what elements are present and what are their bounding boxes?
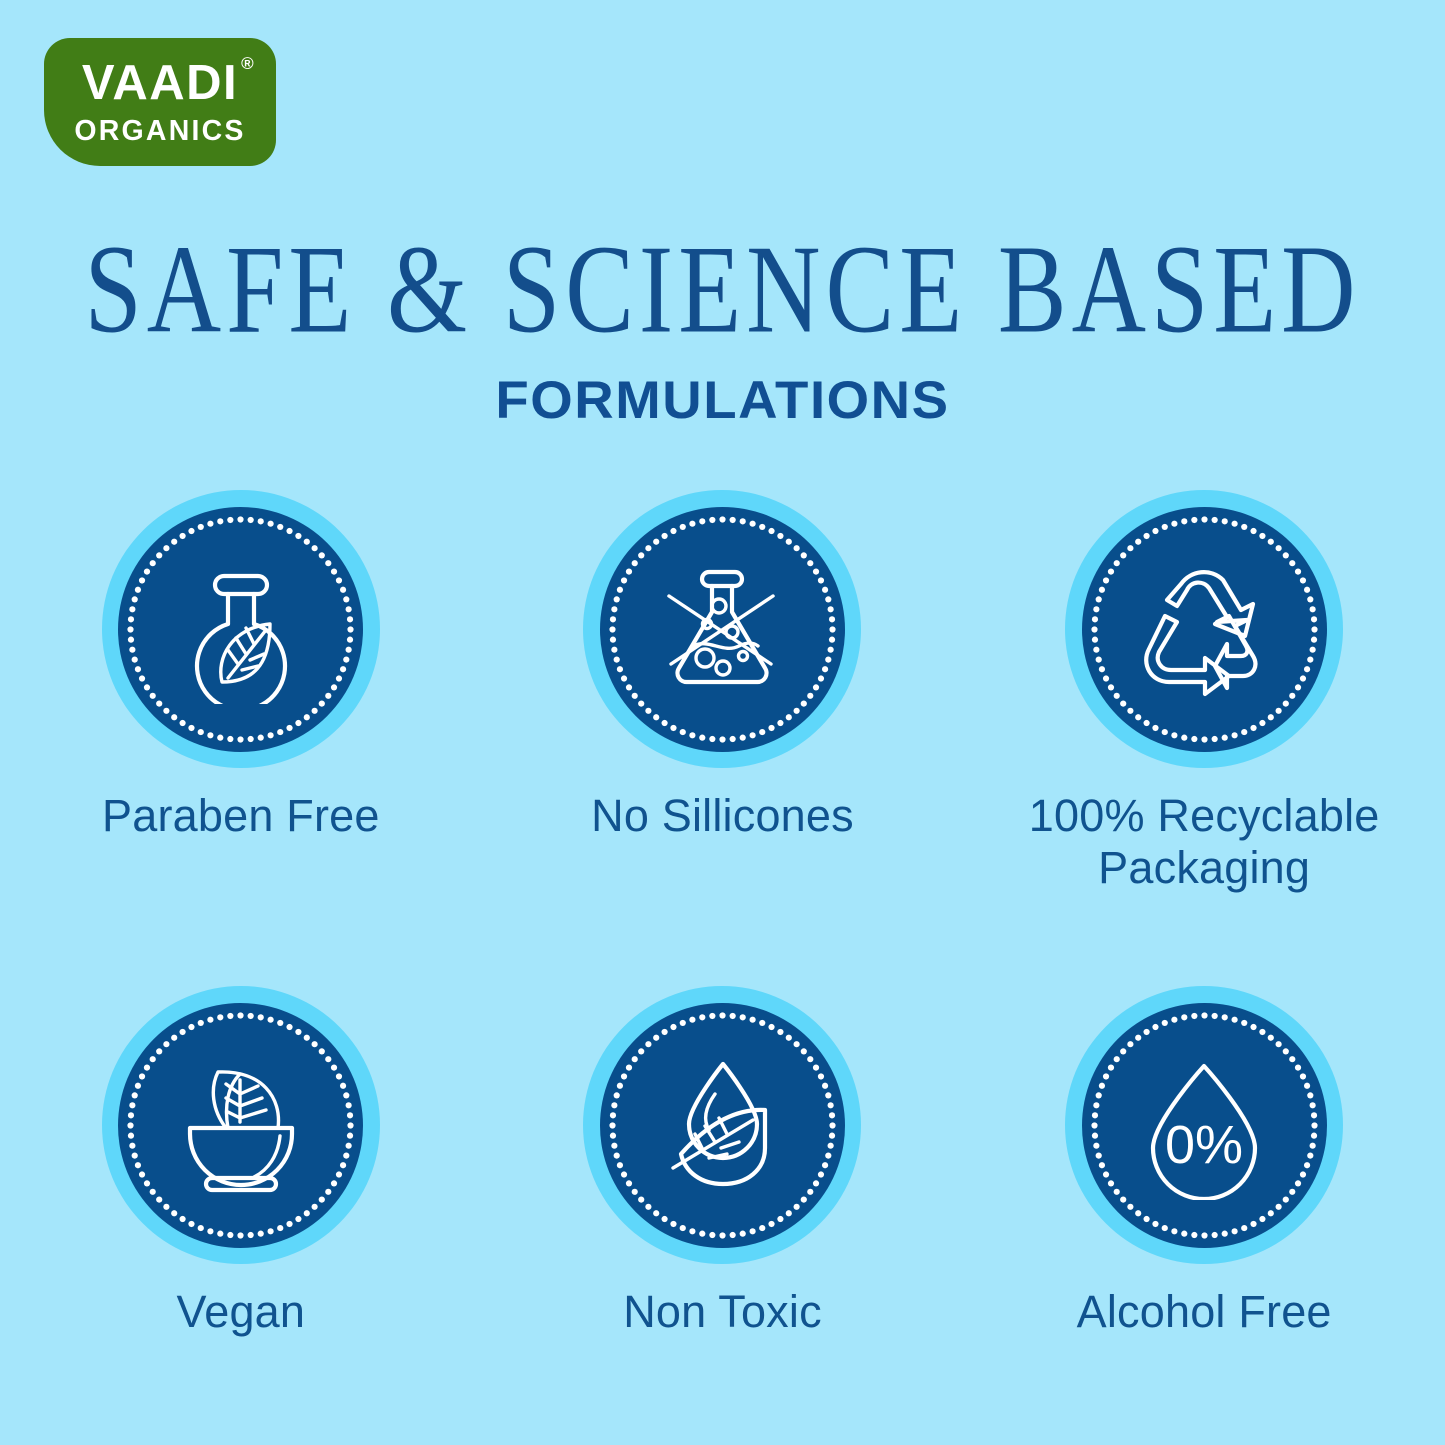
- badge-disc: [1082, 507, 1327, 752]
- recycle-icon: [1129, 554, 1279, 704]
- page-title: SAFE & SCIENCE BASED: [0, 228, 1445, 354]
- brand-name-text: VAADI: [82, 56, 238, 110]
- badge-disc: [118, 1003, 363, 1248]
- droplet-leaf-icon: [647, 1050, 797, 1200]
- feature-item-non-toxic: Non Toxic: [482, 986, 964, 1338]
- badge-disc: [600, 507, 845, 752]
- badge-disc: 0%: [1082, 1003, 1327, 1248]
- feature-badge: [583, 490, 861, 768]
- flask-leaf-icon: [166, 554, 316, 704]
- brand-name: VAADI®: [82, 59, 238, 108]
- feature-item-recyclable-packaging: 100% Recyclable Packaging: [963, 490, 1445, 894]
- badge-disc: [118, 507, 363, 752]
- feature-label: Paraben Free: [102, 790, 380, 842]
- feature-badge: [583, 986, 861, 1264]
- page-subtitle: FORMULATIONS: [0, 374, 1445, 427]
- feature-label: Vegan: [177, 1286, 306, 1338]
- feature-badge: 0%: [1065, 986, 1343, 1264]
- feature-badge: [102, 986, 380, 1264]
- feature-label: 100% Recyclable Packaging: [999, 790, 1409, 894]
- brand-tagline: ORGANICS: [74, 117, 245, 146]
- feature-label: Alcohol Free: [1077, 1286, 1332, 1338]
- feature-label: Non Toxic: [623, 1286, 822, 1338]
- flask-crossed-out-icon: [647, 554, 797, 704]
- feature-label: No Sillicones: [591, 790, 854, 842]
- feature-badge: [102, 490, 380, 768]
- feature-item-no-sillicones: No Sillicones: [482, 490, 964, 894]
- feature-badge: [1065, 490, 1343, 768]
- feature-grid: Paraben Free N: [0, 490, 1445, 1339]
- badge-disc: [600, 1003, 845, 1248]
- feature-item-vegan: Vegan: [0, 986, 482, 1338]
- brand-logo: VAADI® ORGANICS: [44, 38, 276, 166]
- feature-item-alcohol-free: 0% Alcohol Free: [963, 986, 1445, 1338]
- feature-item-paraben-free: Paraben Free: [0, 490, 482, 894]
- bowl-leaf-icon: [166, 1050, 316, 1200]
- registered-trademark-icon: ®: [241, 55, 255, 72]
- droplet-zero-percent-icon: 0%: [1129, 1050, 1279, 1200]
- droplet-zero-percent-label: 0%: [1165, 1115, 1243, 1175]
